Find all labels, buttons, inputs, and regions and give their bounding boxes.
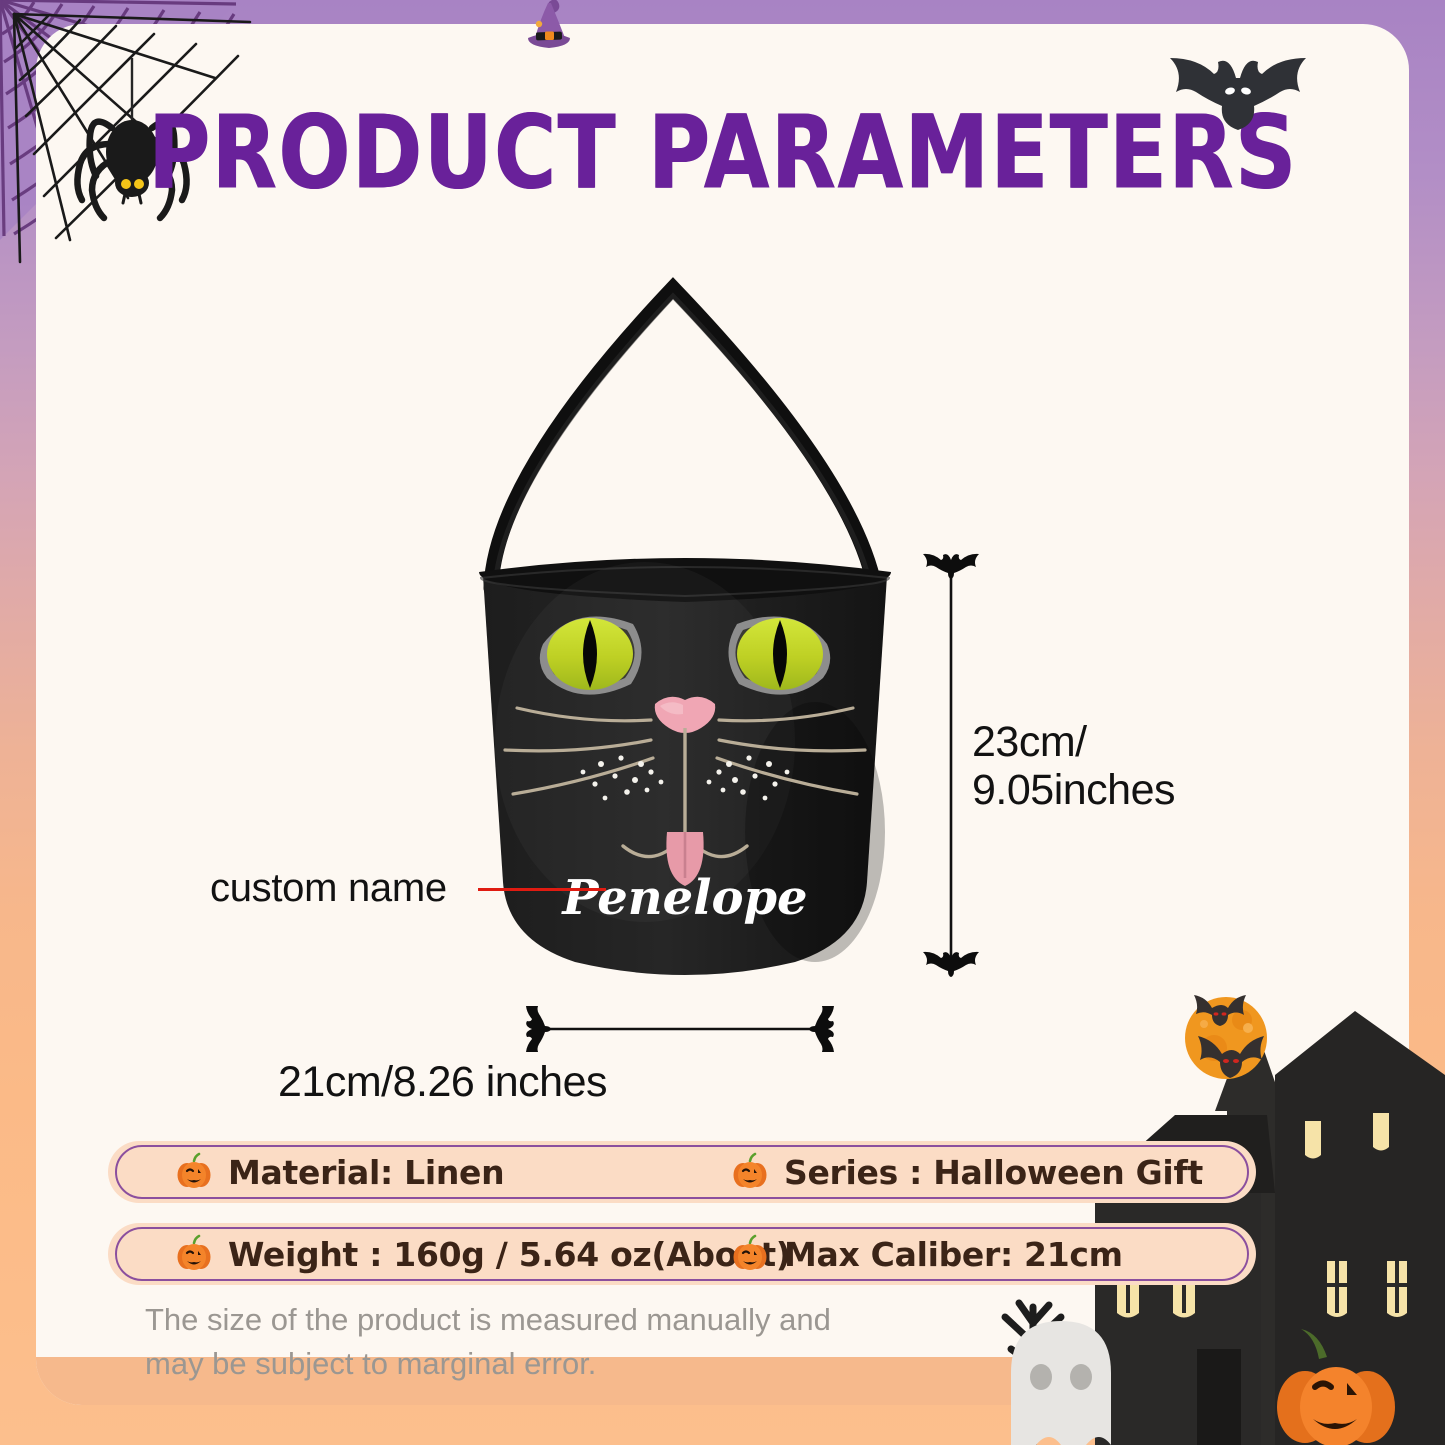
page-title: PRODUCT PARAMETERS [148, 93, 1297, 211]
pumpkin-icon [730, 1152, 770, 1192]
pumpkin-icon [174, 1234, 214, 1274]
spec-item-series: Series : Halloween Gift [726, 1152, 1256, 1192]
spec-text: Material: Linen [228, 1153, 504, 1192]
bat-endpoint-left-icon [526, 1006, 551, 1052]
witch-hat-icon [518, 0, 580, 56]
pumpkin-icon [174, 1152, 214, 1192]
bag-handle [491, 288, 875, 588]
spec-text: Weight : 160g / 5.64 oz(About) [228, 1235, 791, 1274]
pumpkin-icon [730, 1234, 770, 1274]
bat-endpoint-right-icon [809, 1006, 834, 1052]
spec-row: Weight : 160g / 5.64 oz(About) Max Calib… [108, 1223, 1256, 1285]
custom-name-callout-label: custom name [210, 866, 447, 911]
bat-endpoint-top-icon [923, 554, 979, 579]
spec-text: Series : Halloween Gift [784, 1153, 1203, 1192]
infographic-page: PRODUCT PARAMETERS [0, 0, 1445, 1445]
spec-row: Material: Linen Series : Halloween Gift [108, 1141, 1256, 1203]
spec-item-weight: Weight : 160g / 5.64 oz(About) [118, 1234, 726, 1274]
spec-text: Max Caliber: 21cm [784, 1235, 1123, 1274]
spec-list: Material: Linen Series : Halloween Gift [108, 1141, 1256, 1305]
width-dimension-label: 21cm/8.26 inches [0, 1058, 1445, 1107]
measurement-disclaimer: The size of the product is measured manu… [145, 1298, 845, 1386]
bat-icon [1148, 38, 1328, 156]
product-image-cat-bucket-bag: Penelope [455, 272, 915, 1002]
printed-custom-name: Penelope [560, 870, 807, 926]
spec-item-material: Material: Linen [118, 1152, 726, 1192]
width-dimension-line [520, 1006, 840, 1052]
height-dimension-label: 23cm/ 9.05inches [972, 718, 1175, 814]
spec-item-max-caliber: Max Caliber: 21cm [726, 1234, 1256, 1274]
disclaimer-line-1: The size of the product is measured manu… [145, 1298, 845, 1342]
custom-name-leader-line [478, 888, 606, 891]
disclaimer-line-2: may be subject to marginal error. [145, 1342, 845, 1386]
